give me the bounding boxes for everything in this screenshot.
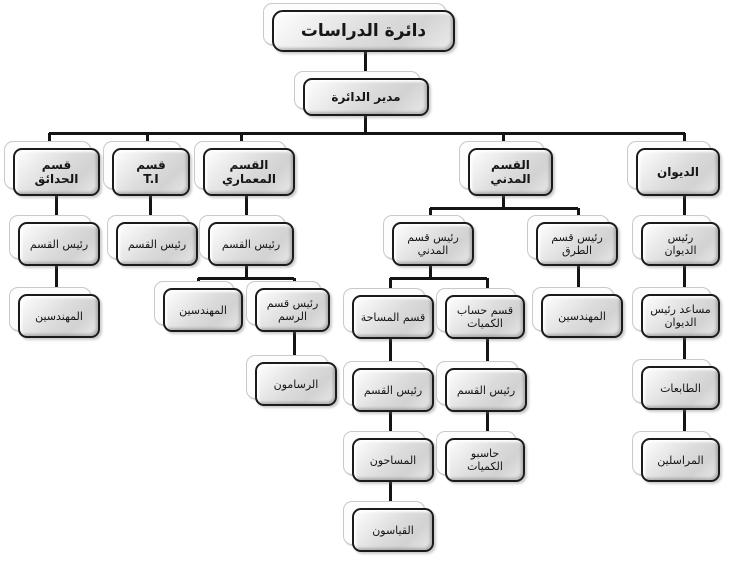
org-node-face: القسم المدني	[468, 148, 553, 196]
connector-civilhead-drop	[429, 266, 432, 278]
org-node-label: القسم المعماري	[219, 157, 279, 187]
org-node-face: المهندسين	[18, 294, 100, 338]
org-node-face: مساعد رئيس الديوان	[641, 294, 720, 338]
org-node-face: قسم المساحة	[352, 295, 434, 339]
org-node-typists[interactable]: الطابعات	[641, 366, 720, 410]
org-node-face: رئيس قسم المدني	[392, 222, 474, 266]
org-node-face: رئيس الديوان	[641, 222, 720, 266]
org-node-diwan_assist[interactable]: مساعد رئيس الديوان	[641, 294, 720, 338]
org-node-face: القسم المعماري	[203, 148, 295, 196]
org-node-arch_head[interactable]: رئيس القسم	[208, 222, 294, 266]
org-node-diwan_head[interactable]: رئيس الديوان	[641, 222, 720, 266]
org-node-face: الديوان	[636, 148, 720, 196]
org-node-label: المهندسين	[32, 309, 86, 324]
org-node-label: المهندسين	[555, 309, 609, 324]
org-node-label: رئيس قسم الرسم	[264, 296, 322, 324]
org-node-label: رئيس قسم الطرق	[548, 230, 606, 258]
org-node-gardens_eng[interactable]: المهندسين	[18, 294, 100, 338]
connector-civilhead-bus	[390, 277, 487, 280]
org-node-face: حاسبو الكميات	[445, 438, 525, 482]
org-node-label: الديوان	[654, 164, 702, 180]
org-node-arch_eng[interactable]: المهندسين	[163, 288, 243, 332]
org-node-label: رئيس القسم	[27, 237, 91, 252]
connector-level2-bus	[49, 132, 685, 135]
org-node-label: قسم الحدائق	[15, 157, 98, 187]
org-node-label: المراسلين	[654, 453, 706, 468]
org-node-label: الرسامون	[271, 377, 322, 392]
org-node-face: رئيس القسم	[445, 368, 527, 412]
org-node-label: دائرة الدراسات	[298, 21, 429, 42]
org-node-messengers[interactable]: المراسلين	[641, 438, 720, 482]
org-node-face: المهندسين	[541, 294, 623, 338]
org-node-quant_calc[interactable]: حاسبو الكميات	[445, 438, 525, 482]
org-node-architecture[interactable]: القسم المعماري	[203, 148, 295, 196]
org-node-face: رئيس قسم الرسم	[255, 288, 330, 332]
org-node-label: المساحون	[367, 453, 420, 468]
org-node-face: المراسلين	[641, 438, 720, 482]
org-node-quant_head[interactable]: رئيس القسم	[445, 368, 527, 412]
connector-director-drop	[364, 116, 367, 133]
org-node-face: قسم حساب الكميات	[445, 295, 525, 339]
org-node-face: رئيس القسم	[116, 222, 198, 266]
org-node-face: قسم الحدائق	[13, 148, 100, 196]
org-node-face: المهندسين	[163, 288, 243, 332]
org-node-face: دائرة الدراسات	[272, 10, 455, 52]
org-node-face: رئيس القسم	[208, 222, 294, 266]
org-node-face: رئيس القسم	[352, 368, 434, 412]
org-node-draftsmen[interactable]: الرسامون	[255, 362, 337, 406]
org-node-label: القياسون	[369, 523, 417, 538]
org-node-label: رئيس القسم	[125, 237, 189, 252]
connector-arch-bus	[198, 277, 294, 280]
org-node-diwan[interactable]: الديوان	[636, 148, 720, 196]
org-node-measurers[interactable]: القياسون	[352, 508, 434, 552]
org-node-label: رئيس القسم	[361, 383, 425, 398]
connector-archhead-drop	[245, 266, 248, 278]
org-node-quantities_dept[interactable]: قسم حساب الكميات	[445, 295, 525, 339]
connector-civil-bus-top	[430, 207, 578, 210]
org-node-surveyors[interactable]: المساحون	[352, 438, 434, 482]
org-node-survey_head[interactable]: رئيس القسم	[352, 368, 434, 412]
org-node-label: قسم حساب الكميات	[454, 303, 516, 331]
connector-civil-drop	[502, 196, 505, 208]
org-node-face: الرسامون	[255, 362, 337, 406]
org-node-gardens[interactable]: قسم الحدائق	[13, 148, 100, 196]
org-node-face: المساحون	[352, 438, 434, 482]
org-node-label: مساعد رئيس الديوان	[647, 302, 714, 330]
org-node-face: رئيس القسم	[18, 222, 100, 266]
org-node-root[interactable]: دائرة الدراسات	[272, 10, 455, 52]
org-node-director[interactable]: مدير الدائرة	[303, 78, 429, 116]
org-node-label: قسم I.T	[133, 157, 168, 187]
org-node-roads_head[interactable]: رئيس قسم الطرق	[536, 222, 618, 266]
org-node-label: المهندسين	[176, 303, 230, 318]
org-node-it_head[interactable]: رئيس القسم	[116, 222, 198, 266]
org-node-face: القياسون	[352, 508, 434, 552]
org-node-roads_eng[interactable]: المهندسين	[541, 294, 623, 338]
org-node-label: حاسبو الكميات	[464, 446, 506, 474]
org-chart: دائرة الدراساتمدير الدائرةقسم الحدائققسم…	[0, 0, 734, 580]
org-node-face: مدير الدائرة	[303, 78, 429, 116]
org-node-survey_dept[interactable]: قسم المساحة	[352, 295, 434, 339]
org-node-label: القسم المدني	[470, 157, 551, 187]
org-node-it[interactable]: قسم I.T	[112, 148, 190, 196]
org-node-civil[interactable]: القسم المدني	[468, 148, 553, 196]
org-node-face: قسم I.T	[112, 148, 190, 196]
org-node-label: قسم المساحة	[358, 310, 429, 325]
org-node-label: الطابعات	[657, 381, 704, 396]
org-node-face: الطابعات	[641, 366, 720, 410]
org-node-label: رئيس الديوان	[661, 230, 699, 258]
org-node-civil_head[interactable]: رئيس قسم المدني	[392, 222, 474, 266]
org-node-label: رئيس قسم المدني	[404, 230, 462, 258]
org-node-label: رئيس القسم	[219, 237, 283, 252]
org-node-label: مدير الدائرة	[328, 89, 403, 105]
org-node-drawing_head[interactable]: رئيس قسم الرسم	[255, 288, 330, 332]
org-node-gardens_head[interactable]: رئيس القسم	[18, 222, 100, 266]
org-node-face: رئيس قسم الطرق	[536, 222, 618, 266]
org-node-label: رئيس القسم	[454, 383, 518, 398]
